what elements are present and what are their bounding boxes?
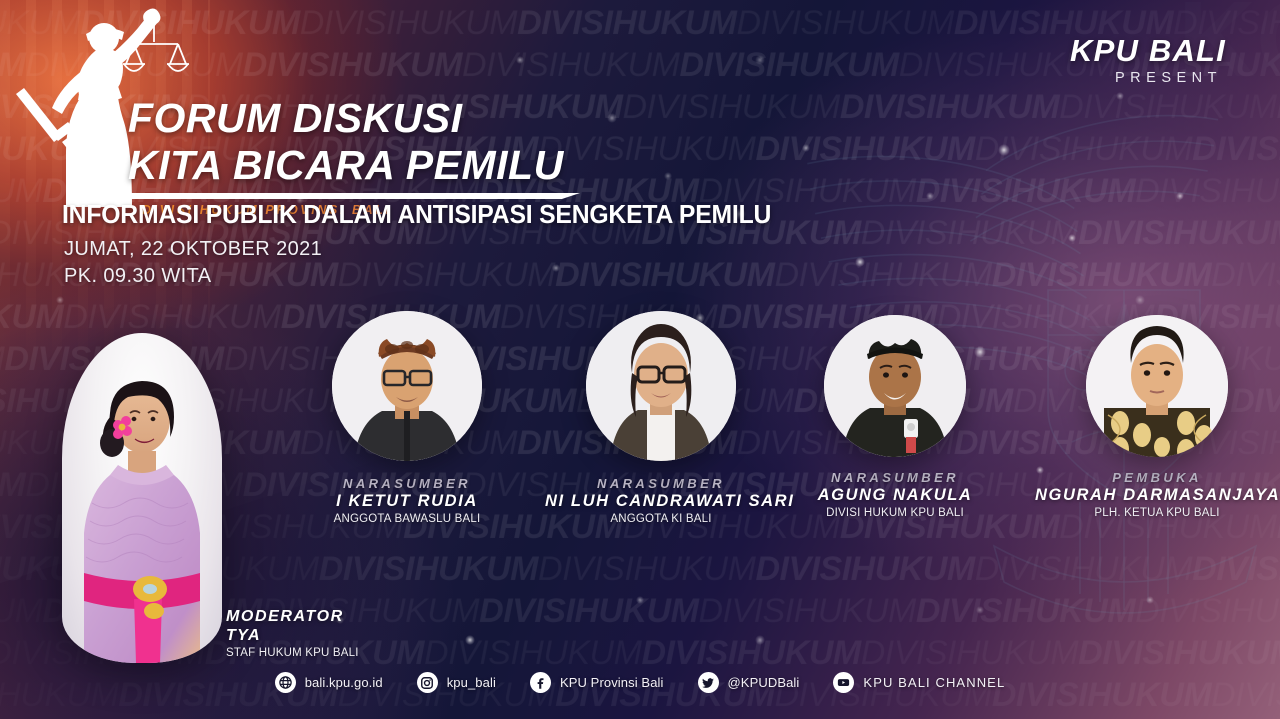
instagram-icon: [417, 672, 438, 693]
speaker-name-3: AGUNG NAKULA: [800, 486, 990, 505]
social-item-youtube[interactable]: KPU BALI CHANNEL: [833, 672, 1005, 693]
youtube-icon: [833, 672, 854, 693]
event-time: PK. 09.30 WITA: [64, 265, 212, 288]
moderator-role: MODERATOR: [226, 608, 359, 626]
speaker-card-4: PEMBUKA NGURAH DARMASANJAYA PLH. KETUA K…: [1035, 315, 1279, 519]
presenter-block: KPU BALI PRESENT: [1070, 34, 1226, 86]
social-handle-website: bali.kpu.go.id: [305, 675, 383, 690]
page-title: INFORMASI PUBLIK DALAM ANTISIPASI SENGKE…: [62, 201, 771, 230]
title-line-1: FORUM DISKUSI: [128, 98, 688, 139]
speaker-role-2: NARASUMBER: [545, 476, 777, 491]
title-underline-rule: [128, 193, 580, 199]
speaker-name-2: NI LUH CANDRAWATI SARI: [545, 492, 777, 511]
social-handle-instagram: kpu_bali: [447, 675, 496, 690]
social-bar: bali.kpu.go.id kpu_bali KPU Provinsi Bal…: [0, 672, 1280, 693]
speaker-org-2: ANGGOTA KI BALI: [545, 513, 777, 525]
social-item-facebook[interactable]: KPU Provinsi Bali: [530, 672, 664, 693]
social-item-twitter[interactable]: @KPUDBali: [698, 672, 800, 693]
facebook-icon: [530, 672, 551, 693]
speaker-name-4: NGURAH DARMASANJAYA: [1035, 486, 1279, 505]
title-line-2: KITA BICARA PEMILU: [128, 145, 688, 186]
social-item-instagram[interactable]: kpu_bali: [417, 672, 496, 693]
moderator-name: TYA: [226, 627, 359, 645]
speaker-card-2: NARASUMBER NI LUH CANDRAWATI SARI ANGGOT…: [545, 311, 777, 525]
speaker-photo-1: [332, 311, 482, 461]
speaker-photo-2: [586, 311, 736, 461]
moderator-label: MODERATOR TYA STAF HUKUM KPU BALI: [226, 608, 359, 659]
presenter-label: PRESENT: [1070, 70, 1222, 86]
speaker-org-3: DIVISI HUKUM KPU BALI: [800, 507, 990, 519]
presenter-org: KPU BALI: [1070, 34, 1226, 67]
speaker-portrait-illustration: [332, 311, 482, 461]
speaker-portrait-illustration: [824, 315, 966, 457]
speaker-card-3: NARASUMBER AGUNG NAKULA DIVISI HUKUM KPU…: [800, 315, 990, 519]
speaker-name-1: I KETUT RUDIA: [306, 492, 508, 511]
speaker-role-1: NARASUMBER: [306, 476, 508, 491]
social-handle-youtube: KPU BALI CHANNEL: [863, 675, 1005, 690]
speaker-role-4: PEMBUKA: [1035, 470, 1279, 485]
social-handle-twitter: @KPUDBali: [728, 675, 800, 690]
title-block: FORUM DISKUSI KITA BICARA PEMILU DIVISI …: [128, 98, 688, 217]
speaker-org-1: ANGGOTA BAWASLU BALI: [306, 513, 508, 525]
speaker-photo-3: [824, 315, 966, 457]
speaker-org-4: PLH. KETUA KPU BALI: [1035, 507, 1279, 519]
twitter-icon: [698, 672, 719, 693]
speaker-role-3: NARASUMBER: [800, 470, 990, 485]
social-item-website[interactable]: bali.kpu.go.id: [275, 672, 383, 693]
speaker-card-1: NARASUMBER I KETUT RUDIA ANGGOTA BAWASLU…: [306, 311, 508, 525]
moderator-portrait-illustration: [62, 333, 222, 663]
speaker-portrait-illustration: [586, 311, 736, 461]
speaker-portrait-illustration: [1086, 315, 1228, 457]
event-date: JUMAT, 22 OKTOBER 2021: [64, 238, 322, 261]
globe-icon: [275, 672, 296, 693]
speaker-photo-4: [1086, 315, 1228, 457]
event-poster: DIVISIHUKUMDIVISIHUKUMDIVISIHUKUMDIVISIH…: [0, 0, 1280, 719]
moderator-photo: [62, 333, 222, 663]
moderator-org: STAF HUKUM KPU BALI: [226, 647, 359, 659]
social-handle-facebook: KPU Provinsi Bali: [560, 675, 664, 690]
